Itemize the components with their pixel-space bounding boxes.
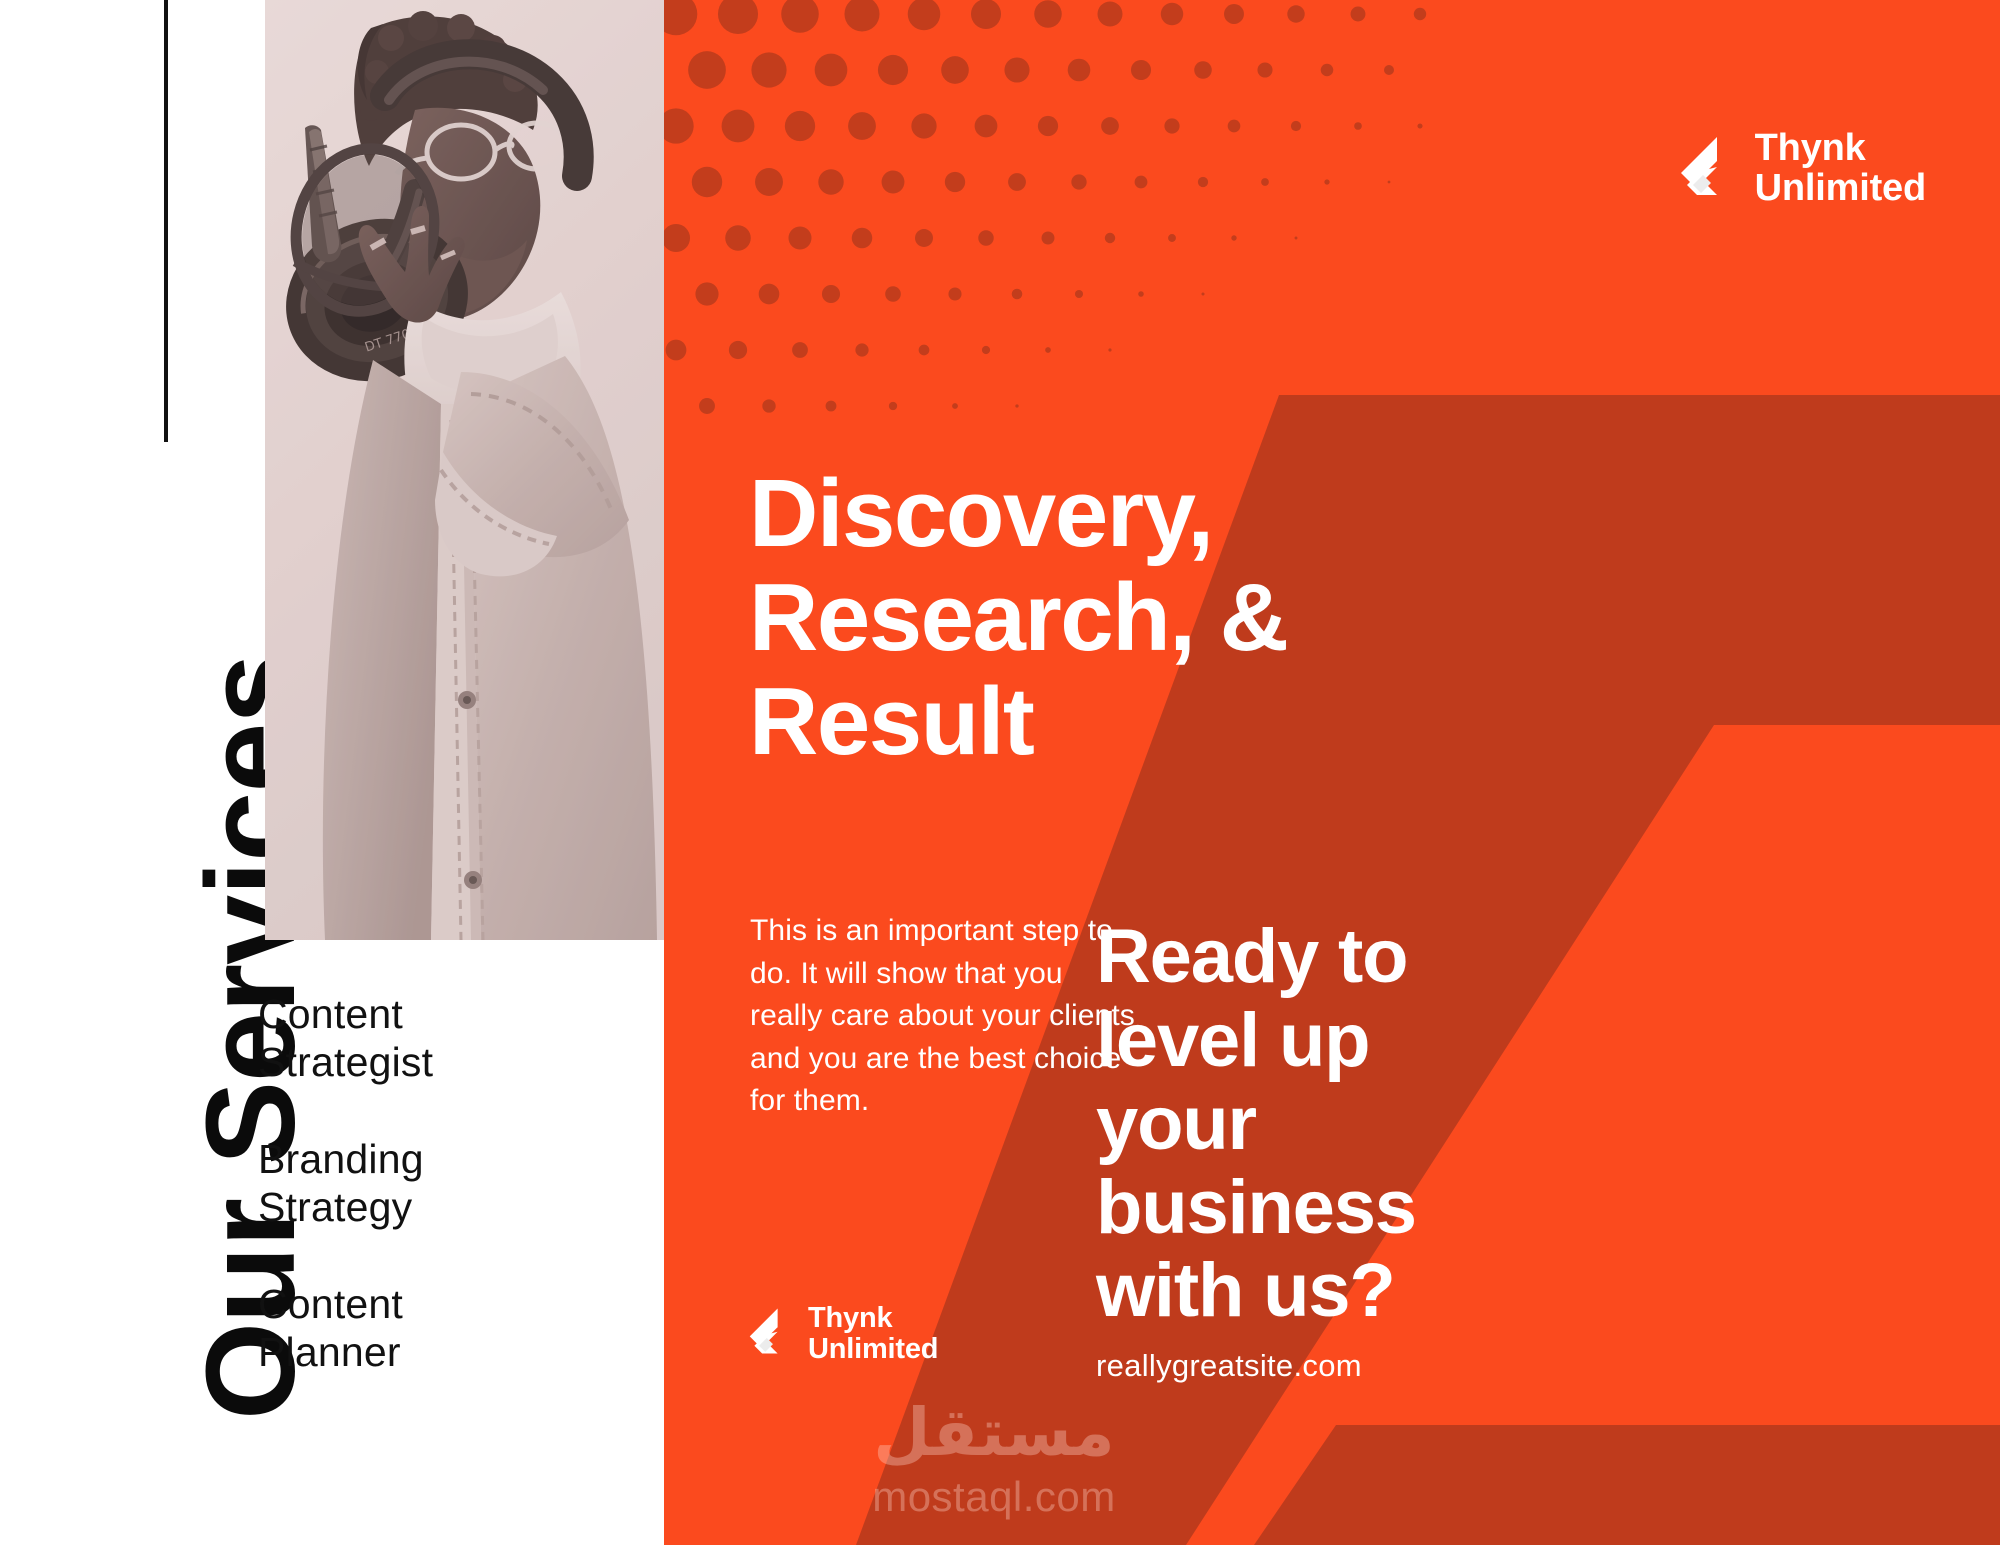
main-heading-line2: Research, & xyxy=(749,564,1287,671)
service-line-2: Planner xyxy=(258,1328,638,1376)
cta-heading: Ready to level up your business with us? xyxy=(1096,915,1516,1333)
brand-logo-bottom[interactable]: Thynk Unlimited xyxy=(742,1303,938,1364)
brand-name-line2: Unlimited xyxy=(1755,167,1926,209)
service-item-branding-strategy[interactable]: Branding Strategy xyxy=(258,1135,638,1232)
body-paragraph: This is an important step to do. It will… xyxy=(750,910,1140,1123)
cta-heading-line3: your xyxy=(1096,1081,1256,1166)
service-line-1: Content xyxy=(258,1280,638,1328)
service-line-1: Content xyxy=(258,990,638,1038)
brand-name-line1: Thynk xyxy=(808,1302,892,1334)
service-item-content-strategist[interactable]: Content Strategist xyxy=(258,990,638,1087)
brand-name-line2: Unlimited xyxy=(808,1333,938,1365)
halftone-dots-decoration xyxy=(664,0,1444,420)
singer-photo: DT 770 xyxy=(265,0,664,940)
right-orange-panel: Thynk Unlimited Discovery, Research, & R… xyxy=(664,0,2000,1545)
main-heading: Discovery, Research, & Result xyxy=(749,462,1529,773)
flutter-chevron-logo-icon xyxy=(742,1307,790,1360)
services-list: Content Strategist Branding Strategy Con… xyxy=(258,990,638,1376)
main-heading-line1: Discovery, xyxy=(749,460,1213,567)
brand-logo-top[interactable]: Thynk Unlimited xyxy=(1671,128,1926,209)
cta-heading-line1: Ready to xyxy=(1096,914,1407,999)
cta-heading-line4: business xyxy=(1096,1165,1416,1250)
brand-name: Thynk Unlimited xyxy=(808,1303,938,1364)
main-heading-line3: Result xyxy=(749,668,1033,775)
website-url[interactable]: reallygreatsite.com xyxy=(1096,1348,1362,1384)
cta-heading-line5: with us? xyxy=(1096,1248,1395,1333)
left-white-panel: Our Services xyxy=(0,0,664,1545)
brand-name: Thynk Unlimited xyxy=(1755,128,1926,209)
service-item-content-planner[interactable]: Content Planner xyxy=(258,1280,638,1377)
service-line-2: Strategist xyxy=(258,1038,638,1086)
service-line-1: Branding xyxy=(258,1135,638,1183)
vertical-divider-rule xyxy=(164,0,168,442)
vertical-title-container: Our Services xyxy=(0,480,240,1420)
cta-heading-line2: level up xyxy=(1096,998,1369,1083)
flutter-chevron-logo-icon xyxy=(1671,135,1733,202)
poster-canvas: Our Services xyxy=(0,0,2000,1545)
service-line-2: Strategy xyxy=(258,1183,638,1231)
brand-name-line1: Thynk xyxy=(1755,127,1866,169)
